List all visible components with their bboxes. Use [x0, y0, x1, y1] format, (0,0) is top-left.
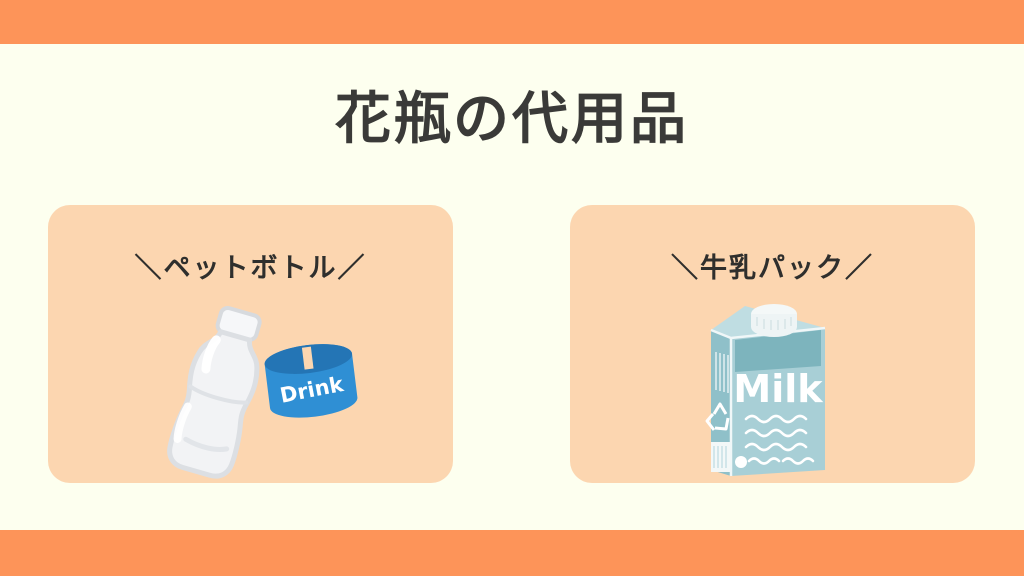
- slide-root: 花瓶の代用品 ＼ペットボトル／: [0, 0, 1024, 576]
- bottle-body: [165, 327, 266, 479]
- carton-cap: [751, 304, 797, 337]
- milk-carton-illustration: Milk: [570, 295, 975, 483]
- plastic-bottle-svg: Drink: [131, 299, 371, 479]
- carton-brand-text: Milk: [733, 367, 823, 411]
- page-title: 花瓶の代用品: [0, 88, 1024, 152]
- milk-carton-svg: Milk: [673, 294, 873, 484]
- card-container: ＼ペットボトル／ Drink: [0, 205, 1024, 483]
- cap-body: [751, 314, 797, 337]
- card-milk-carton[interactable]: ＼牛乳パック／: [570, 205, 975, 483]
- bottle-group: [165, 303, 273, 479]
- card-plastic-bottle[interactable]: ＼ペットボトル／ Drink: [48, 205, 453, 483]
- carton-group: Milk: [707, 304, 825, 476]
- bottom-accent-band: [0, 530, 1024, 576]
- label-ring-group: Drink: [262, 340, 358, 422]
- card-label-plastic-bottle: ＼ペットボトル／: [48, 253, 453, 285]
- plastic-bottle-illustration: Drink: [48, 295, 453, 483]
- top-accent-band: [0, 0, 1024, 44]
- card-label-milk-carton: ＼牛乳パック／: [570, 253, 975, 285]
- carton-dot: [735, 456, 747, 468]
